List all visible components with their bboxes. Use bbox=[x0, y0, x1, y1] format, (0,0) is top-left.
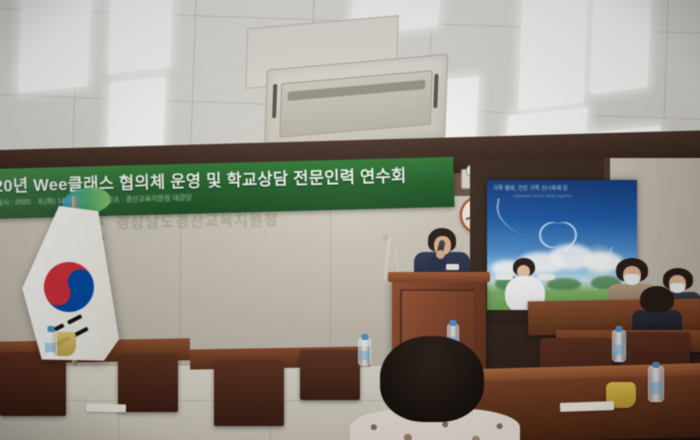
water-bottle-icon bbox=[358, 338, 371, 366]
banner-place: 장소 : 경산교육지원청 대강당 bbox=[107, 193, 192, 205]
water-bottle-icon bbox=[44, 330, 57, 358]
face-mask-icon bbox=[624, 274, 640, 285]
ceiling-light-panel bbox=[108, 0, 173, 74]
ceiling-light-panel bbox=[590, 0, 652, 94]
foreground-attendee-hair bbox=[380, 336, 484, 422]
ceiling-light-panel bbox=[518, 0, 587, 111]
ac-bracket bbox=[272, 84, 277, 119]
ceiling-light-panel bbox=[18, 0, 92, 93]
chair bbox=[214, 360, 284, 426]
chair bbox=[300, 350, 360, 400]
water-bottle-icon bbox=[612, 330, 626, 362]
name-badge bbox=[446, 264, 459, 270]
water-bottle-icon bbox=[648, 366, 664, 402]
speaker-hand bbox=[436, 250, 445, 259]
conference-hall-photo: 경상남도경산교육지원청 20년 Wee클래스 협의체 운영 및 학교상담 전문인… bbox=[0, 0, 700, 440]
ac-vent bbox=[288, 80, 426, 101]
chair bbox=[0, 352, 66, 416]
ac-grille bbox=[279, 70, 432, 138]
handout-paper bbox=[560, 401, 614, 412]
ac-bracket bbox=[433, 74, 438, 109]
foreground-attendee bbox=[374, 336, 492, 440]
handout-paper bbox=[86, 404, 126, 413]
banner-title: 20년 Wee클래스 협의체 운영 및 학교상담 전문인력 연수회 bbox=[0, 161, 446, 197]
mural-subline: Happiness for the family together bbox=[513, 193, 572, 198]
podium-top bbox=[388, 272, 490, 282]
chair bbox=[118, 354, 178, 412]
